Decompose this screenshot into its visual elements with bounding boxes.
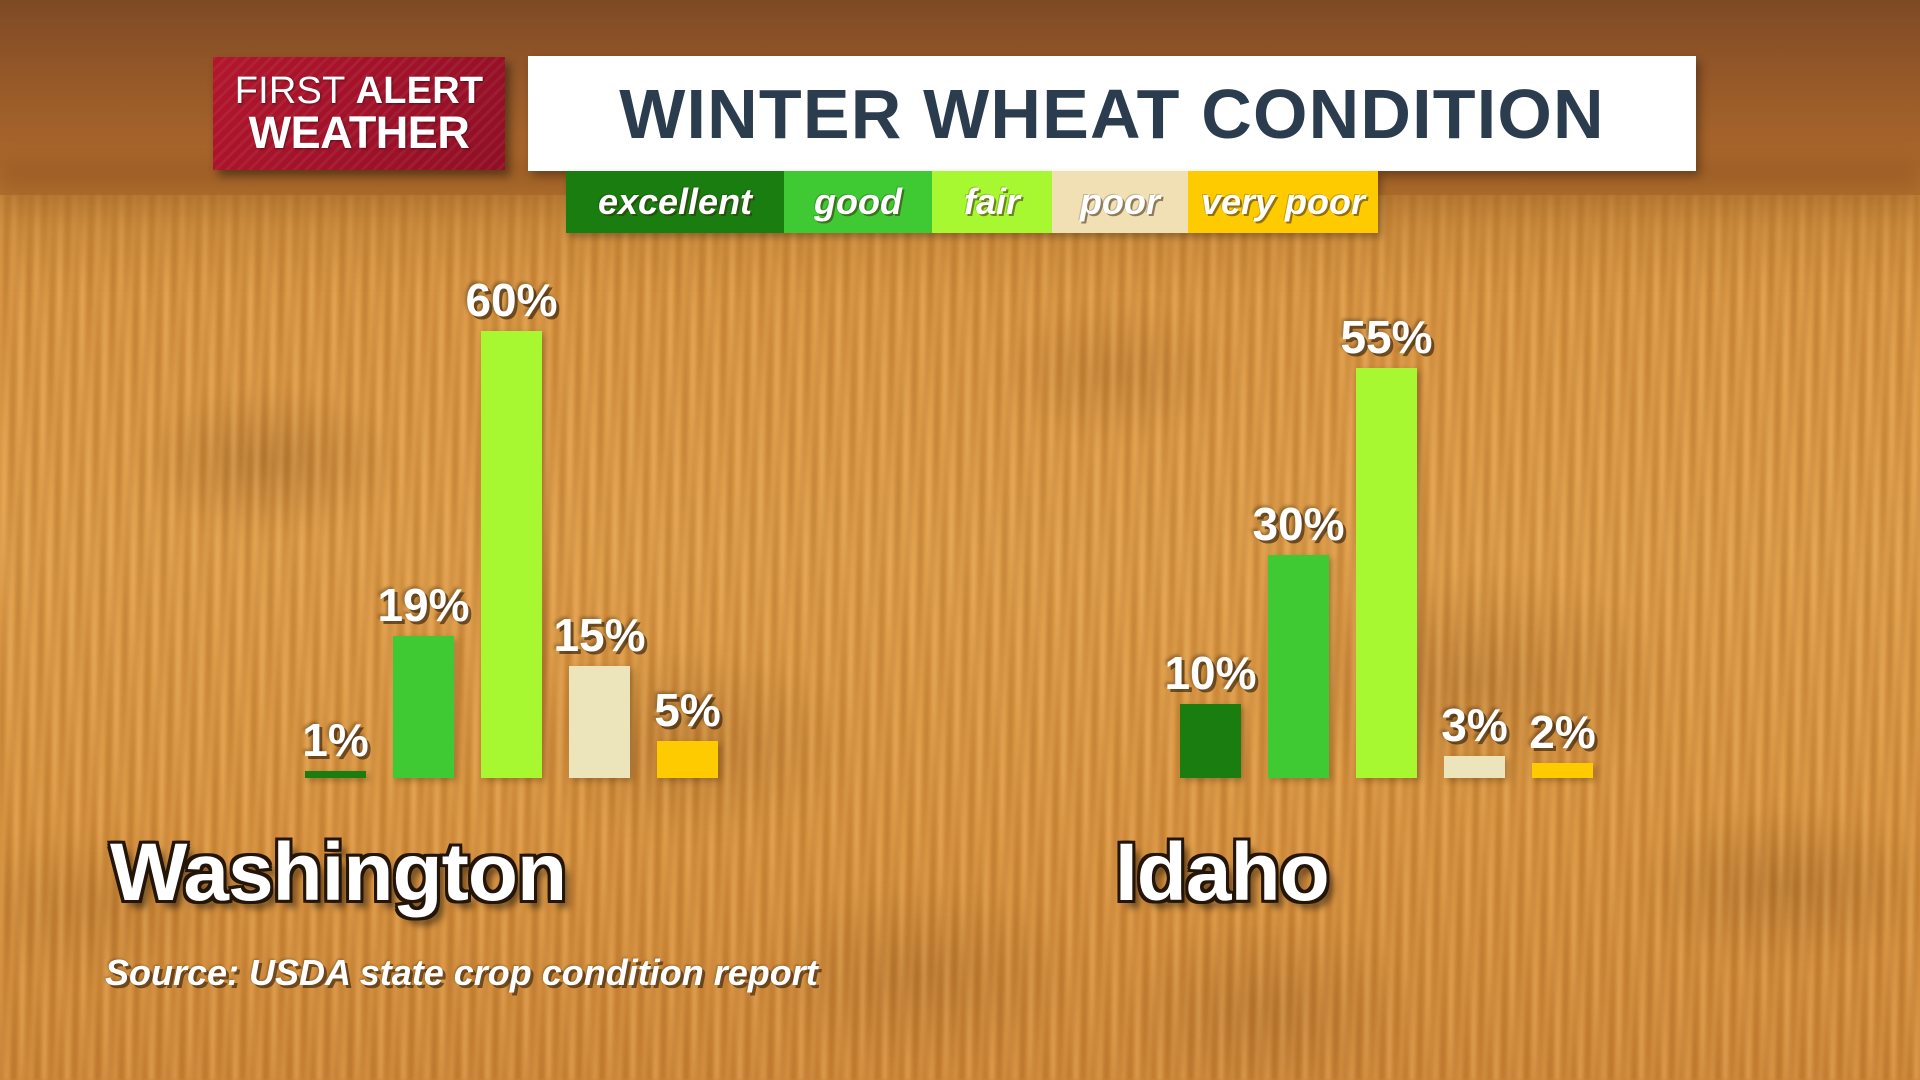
bar-value-label: 60% — [465, 273, 557, 327]
bar-rect — [1444, 756, 1505, 778]
bar-good: 19% — [393, 636, 454, 778]
legend-item-good: good — [784, 171, 932, 233]
bar-fair: 55% — [1356, 368, 1417, 778]
bar-excellent: 10% — [1180, 704, 1241, 779]
bar-very-poor: 5% — [657, 741, 718, 778]
graphic-header: FIRST ALERT WEATHER WINTER WHEAT CONDITI… — [0, 0, 1920, 250]
bar-value-label: 5% — [654, 683, 720, 737]
bar-rect — [305, 771, 366, 778]
first-alert-weather-logo: FIRST ALERT WEATHER — [213, 57, 505, 170]
bar-poor: 15% — [569, 666, 630, 778]
bar-rect — [657, 741, 718, 778]
condition-legend: excellentgoodfairpoorvery poor — [566, 171, 1378, 233]
legend-item-label: poor — [1080, 181, 1160, 223]
bar-good: 30% — [1268, 555, 1329, 779]
title-bar: WINTER WHEAT CONDITION — [528, 56, 1696, 171]
legend-item-label: excellent — [598, 181, 752, 223]
legend-item-label: good — [814, 181, 902, 223]
logo-line-one: FIRST ALERT — [235, 72, 484, 110]
bar-group-bars: 1%19%60%15%5% — [305, 331, 718, 778]
legend-item-excellent: excellent — [566, 171, 784, 233]
bar-rect — [1180, 704, 1241, 779]
bar-value-label: 19% — [377, 578, 469, 632]
bar-fair: 60% — [481, 331, 542, 778]
bar-rect — [1532, 763, 1593, 778]
bar-group-bars: 10%30%55%3%2% — [1180, 368, 1593, 778]
source-note: Source: USDA state crop condition report — [105, 952, 818, 994]
logo-weather-text: WEATHER — [249, 110, 470, 155]
bar-rect — [569, 666, 630, 778]
page-title: WINTER WHEAT CONDITION — [619, 74, 1605, 154]
bar-rect — [481, 331, 542, 778]
bar-rect — [1268, 555, 1329, 779]
legend-item-poor: poor — [1052, 171, 1188, 233]
legend-item-label: fair — [964, 181, 1020, 223]
bar-value-label: 55% — [1340, 310, 1432, 364]
bar-value-label: 1% — [302, 713, 368, 767]
bar-value-label: 2% — [1529, 705, 1595, 759]
state-label-washington: Washington — [110, 826, 566, 920]
state-label-idaho: Idaho — [1115, 826, 1329, 920]
bar-value-label: 3% — [1441, 698, 1507, 752]
bar-rect — [393, 636, 454, 778]
bar-value-label: 15% — [553, 608, 645, 662]
logo-alert-text: ALERT — [356, 70, 484, 112]
bar-value-label: 10% — [1164, 646, 1256, 700]
legend-item-very-poor: very poor — [1188, 171, 1378, 233]
legend-item-label: very poor — [1201, 181, 1365, 223]
logo-first-text: FIRST — [235, 70, 356, 112]
bar-excellent: 1% — [305, 771, 366, 778]
bar-value-label: 30% — [1252, 497, 1344, 551]
bar-poor: 3% — [1444, 756, 1505, 778]
legend-item-fair: fair — [932, 171, 1052, 233]
bar-rect — [1356, 368, 1417, 778]
bar-very-poor: 2% — [1532, 763, 1593, 778]
